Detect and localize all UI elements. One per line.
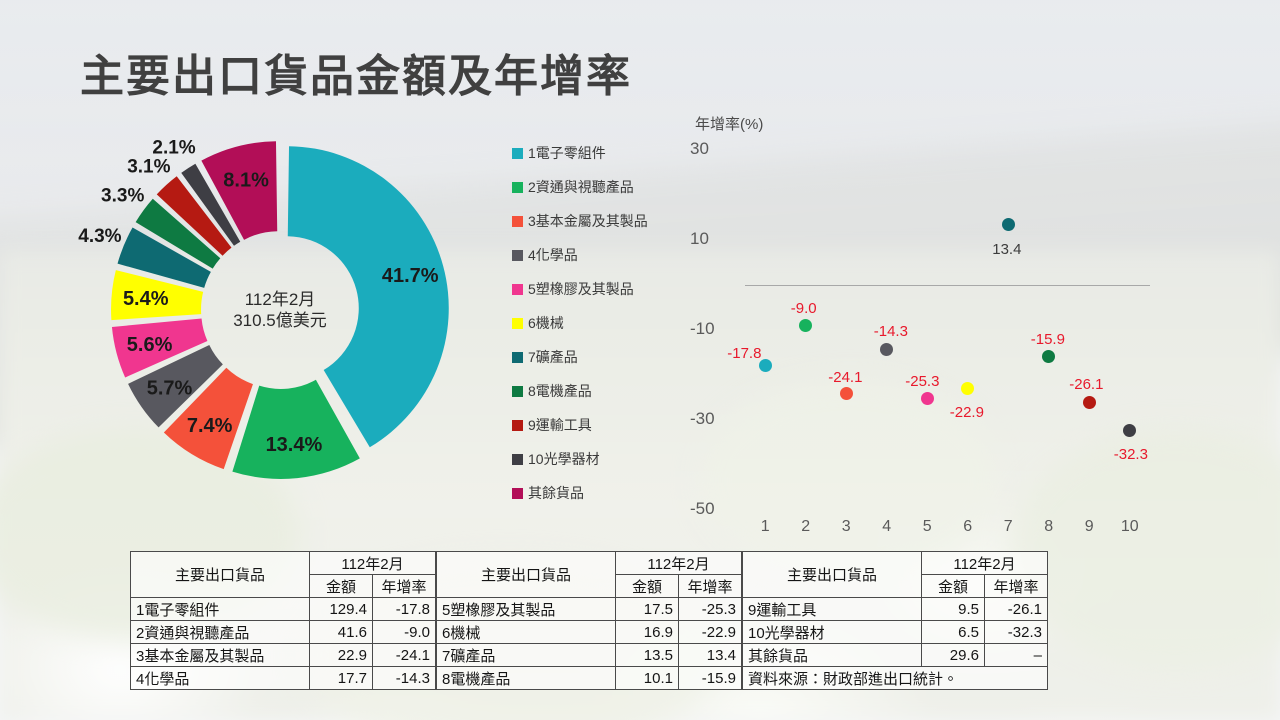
legend-item-label: 6機械 <box>528 313 564 333</box>
table-cell-growth: -14.3 <box>373 667 436 690</box>
table-row: 1電子零組件129.4-17.8 <box>131 598 436 621</box>
legend-item-4[interactable]: 4化學品 <box>512 238 648 272</box>
table1-header-period: 112年2月 <box>310 552 436 575</box>
scatter-xtick-3: 3 <box>837 518 855 536</box>
scatter-xtick-6: 6 <box>959 518 977 536</box>
legend-item-7[interactable]: 7礦產品 <box>512 340 648 374</box>
page-title: 主要出口貨品金額及年增率 <box>80 40 632 104</box>
scatter-xtick-8: 8 <box>1040 518 1058 536</box>
table3-header-item: 主要出口貨品 <box>743 552 922 598</box>
table-cell-growth: – <box>985 644 1048 667</box>
legend-item-label: 10光學器材 <box>528 449 600 469</box>
table2-header-amount: 金額 <box>616 575 679 598</box>
legend-item-label: 7礦產品 <box>528 347 578 367</box>
scatter-xtick-4: 4 <box>878 518 896 536</box>
table-cell-amount: 16.9 <box>616 621 679 644</box>
table-row: 其餘貨品29.6– <box>743 644 1048 667</box>
table2-body: 5塑橡膠及其製品17.5-25.36機械16.9-22.97礦產品13.513.… <box>437 598 742 690</box>
table-cell-item: 6機械 <box>437 621 616 644</box>
scatter-point-4[interactable] <box>880 343 893 356</box>
donut-slice-label-11: 8.1% <box>223 170 269 192</box>
table-row: 2資通與視聽產品41.6-9.0 <box>131 621 436 644</box>
scatter-point-label-7: 13.4 <box>992 241 1021 258</box>
table3-header-amount: 金額 <box>922 575 985 598</box>
table-cell-amount: 17.5 <box>616 598 679 621</box>
donut-slice-label-6: 5.4% <box>123 288 169 310</box>
table1-body: 1電子零組件129.4-17.82資通與視聽產品41.6-9.03基本金屬及其製… <box>131 598 436 690</box>
scatter-xtick-2: 2 <box>797 518 815 536</box>
table-cell-amount: 10.1 <box>616 667 679 690</box>
legend-item-label: 5塑橡膠及其製品 <box>528 279 634 299</box>
table-cell-growth: 13.4 <box>679 644 742 667</box>
legend-swatch-icon <box>512 454 523 465</box>
scatter-ytick-3: -30 <box>690 409 715 429</box>
legend-item-8[interactable]: 8電機產品 <box>512 374 648 408</box>
table2-header-item: 主要出口貨品 <box>437 552 616 598</box>
legend-swatch-icon <box>512 488 523 499</box>
export-table-block-2: 主要出口貨品 112年2月 金額 年增率 5塑橡膠及其製品17.5-25.36機… <box>436 551 742 690</box>
donut-slice-label-8: 3.3% <box>101 186 144 207</box>
table-cell-item: 3基本金屬及其製品 <box>131 644 310 667</box>
legend-item-6[interactable]: 6機械 <box>512 306 648 340</box>
scatter-point-label-6: -22.9 <box>950 404 984 421</box>
table3-header-growth: 年增率 <box>985 575 1048 598</box>
scatter-point-label-8: -15.9 <box>1031 331 1065 348</box>
table-cell-growth: -22.9 <box>679 621 742 644</box>
donut-slice-label-3: 7.4% <box>187 415 233 437</box>
scatter-axis-title: 年增率(%) <box>695 113 763 134</box>
scatter-point-8[interactable] <box>1042 350 1055 363</box>
scatter-xtick-1: 1 <box>756 518 774 536</box>
legend-item-10[interactable]: 10光學器材 <box>512 442 648 476</box>
scatter-zero-line <box>745 285 1150 286</box>
table-cell-item: 10光學器材 <box>743 621 922 644</box>
donut-slice-label-4: 5.7% <box>147 377 193 399</box>
table-cell-amount: 6.5 <box>922 621 985 644</box>
donut-slice-label-7: 4.3% <box>78 226 121 247</box>
scatter-ytick-0: 30 <box>690 139 709 159</box>
table-row: 4化學品17.7-14.3 <box>131 667 436 690</box>
table2-header-growth: 年增率 <box>679 575 742 598</box>
legend-swatch-icon <box>512 148 523 159</box>
legend-swatch-icon <box>512 284 523 295</box>
donut-slice-label-5: 5.6% <box>127 334 173 356</box>
legend-item-2[interactable]: 2資通與視聽產品 <box>512 170 648 204</box>
table-source-note: 資料來源：財政部進出口統計。 <box>743 667 1048 690</box>
scatter-point-2[interactable] <box>799 319 812 332</box>
table1-header-item: 主要出口貨品 <box>131 552 310 598</box>
scatter-ytick-2: -10 <box>690 319 715 339</box>
legend-item-label: 8電機產品 <box>528 381 592 401</box>
scatter-xtick-7: 7 <box>999 518 1017 536</box>
scatter-point-label-3: -24.1 <box>828 369 862 386</box>
table-cell-growth: -26.1 <box>985 598 1048 621</box>
export-table-block-3: 主要出口貨品 112年2月 金額 年增率 9運輸工具9.5-26.110光學器材… <box>742 551 1048 690</box>
scatter-chart: 年增率(%) 3010-10-30-5012345678910-17.8-9.0… <box>690 105 1190 535</box>
table-cell-item: 4化學品 <box>131 667 310 690</box>
legend-swatch-icon <box>512 250 523 261</box>
legend-item-5[interactable]: 5塑橡膠及其製品 <box>512 272 648 306</box>
scatter-point-label-9: -26.1 <box>1069 376 1103 393</box>
legend-swatch-icon <box>512 352 523 363</box>
legend-swatch-icon <box>512 318 523 329</box>
scatter-point-5[interactable] <box>921 392 934 405</box>
table2-header-period: 112年2月 <box>616 552 742 575</box>
table-cell-item: 2資通與視聽產品 <box>131 621 310 644</box>
scatter-point-6[interactable] <box>961 382 974 395</box>
scatter-xtick-5: 5 <box>918 518 936 536</box>
table-cell-amount: 29.6 <box>922 644 985 667</box>
donut-slice-label-1: 41.7% <box>382 265 439 287</box>
scatter-point-7[interactable] <box>1002 218 1015 231</box>
legend-item-label: 9運輸工具 <box>528 415 592 435</box>
scatter-ytick-4: -50 <box>690 499 715 519</box>
table-cell-item: 9運輸工具 <box>743 598 922 621</box>
legend-swatch-icon <box>512 216 523 227</box>
scatter-point-label-5: -25.3 <box>905 373 939 390</box>
donut-slice-label-10: 2.1% <box>152 137 195 158</box>
scatter-point-label-2: -9.0 <box>791 300 817 317</box>
scatter-point-label-1: -17.8 <box>727 345 761 362</box>
scatter-point-label-4: -14.3 <box>874 323 908 340</box>
legend-item-1[interactable]: 1電子零組件 <box>512 136 648 170</box>
table-row: 5塑橡膠及其製品17.5-25.3 <box>437 598 742 621</box>
table-cell-growth: -9.0 <box>373 621 436 644</box>
table-cell-amount: 17.7 <box>310 667 373 690</box>
table-cell-item: 5塑橡膠及其製品 <box>437 598 616 621</box>
table-cell-amount: 13.5 <box>616 644 679 667</box>
table-cell-growth: -15.9 <box>679 667 742 690</box>
scatter-point-3[interactable] <box>840 387 853 400</box>
table-cell-item: 7礦產品 <box>437 644 616 667</box>
table-cell-growth: -17.8 <box>373 598 436 621</box>
table-row: 3基本金屬及其製品22.9-24.1 <box>131 644 436 667</box>
table1-header-growth: 年增率 <box>373 575 436 598</box>
legend-item-label: 3基本金屬及其製品 <box>528 211 648 231</box>
table-row: 10光學器材6.5-32.3 <box>743 621 1048 644</box>
legend-item-label: 其餘貨品 <box>528 483 584 503</box>
data-tables: 主要出口貨品 112年2月 金額 年增率 1電子零組件129.4-17.82資通… <box>130 551 1048 690</box>
table-cell-amount: 129.4 <box>310 598 373 621</box>
donut-center-line2: 310.5億美元 <box>233 310 327 331</box>
legend-item-9[interactable]: 9運輸工具 <box>512 408 648 442</box>
donut-center-label: 112年2月 310.5億美元 <box>220 250 340 370</box>
legend-swatch-icon <box>512 182 523 193</box>
export-table-block-1: 主要出口貨品 112年2月 金額 年增率 1電子零組件129.4-17.82資通… <box>130 551 436 690</box>
donut-center-line1: 112年2月 <box>245 289 316 310</box>
table-row: 8電機產品10.1-15.9 <box>437 667 742 690</box>
table3-body: 9運輸工具9.5-26.110光學器材6.5-32.3其餘貨品29.6– <box>743 598 1048 667</box>
legend-item-11[interactable]: 其餘貨品 <box>512 476 648 510</box>
donut-slice-label-9: 3.1% <box>127 157 170 178</box>
scatter-point-9[interactable] <box>1083 396 1096 409</box>
legend-item-3[interactable]: 3基本金屬及其製品 <box>512 204 648 238</box>
donut-chart: 41.7%13.4%7.4%5.7%5.6%5.4%4.3%3.3%3.1%2.… <box>60 100 500 520</box>
table-cell-item: 1電子零組件 <box>131 598 310 621</box>
legend-item-label: 1電子零組件 <box>528 143 606 163</box>
table-row: 6機械16.9-22.9 <box>437 621 742 644</box>
legend-item-label: 2資通與視聽產品 <box>528 177 634 197</box>
legend-swatch-icon <box>512 386 523 397</box>
donut-slice-label-2: 13.4% <box>266 434 323 456</box>
table-cell-growth: -25.3 <box>679 598 742 621</box>
chart-legend: 1電子零組件2資通與視聽產品3基本金屬及其製品4化學品5塑橡膠及其製品6機械7礦… <box>512 136 648 510</box>
scatter-xtick-9: 9 <box>1080 518 1098 536</box>
table3-header-period: 112年2月 <box>922 552 1048 575</box>
table-cell-item: 其餘貨品 <box>743 644 922 667</box>
table-cell-amount: 22.9 <box>310 644 373 667</box>
scatter-ytick-1: 10 <box>690 229 709 249</box>
scatter-xtick-10: 10 <box>1121 518 1139 536</box>
scatter-point-10[interactable] <box>1123 424 1136 437</box>
scatter-point-label-10: -32.3 <box>1114 446 1148 463</box>
table-row: 9運輸工具9.5-26.1 <box>743 598 1048 621</box>
table-cell-item: 8電機產品 <box>437 667 616 690</box>
table-cell-growth: -32.3 <box>985 621 1048 644</box>
legend-item-label: 4化學品 <box>528 245 578 265</box>
table1-header-amount: 金額 <box>310 575 373 598</box>
table-cell-amount: 9.5 <box>922 598 985 621</box>
table-cell-growth: -24.1 <box>373 644 436 667</box>
table-cell-amount: 41.6 <box>310 621 373 644</box>
table-row: 7礦產品13.513.4 <box>437 644 742 667</box>
legend-swatch-icon <box>512 420 523 431</box>
